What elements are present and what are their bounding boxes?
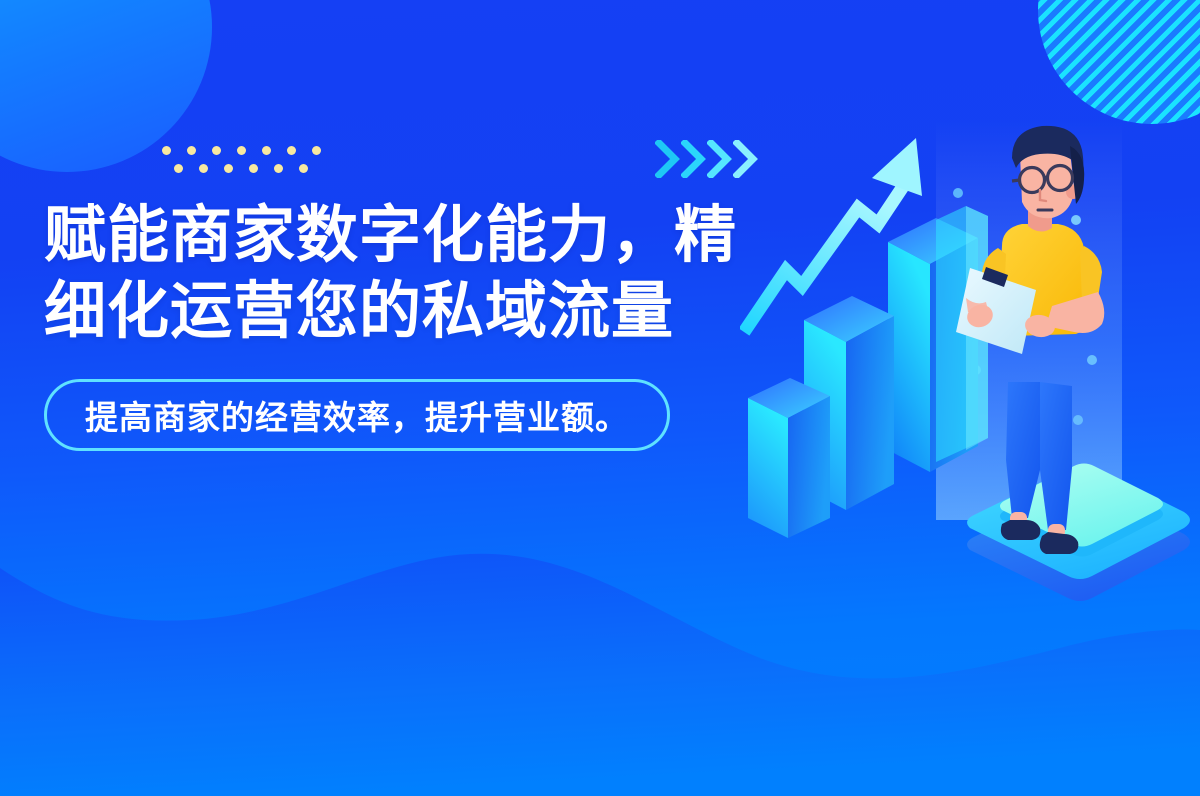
decorative-dot [299,164,308,173]
illustration-svg [740,120,1200,620]
decorative-dot [162,146,171,155]
decorative-dot [174,164,183,173]
decorative-dot [187,146,196,155]
shoe-left [1001,520,1040,540]
decorative-dot [249,164,258,173]
chevron-right-icon [681,140,707,178]
page-title: 赋能商家数字化能力，精 细化运营您的私域流量 [44,198,784,349]
top-right-striped-circle-decoration [1038,0,1200,124]
decorative-dot [224,164,233,173]
subtitle-pill: 提高商家的经营效率，提升营业额。 [44,379,670,451]
decorative-dot [212,146,221,155]
business-analytics-illustration [740,120,1200,620]
marketing-banner: 赋能商家数字化能力，精 细化运营您的私域流量 提高商家的经营效率，提升营业额。 [0,0,1200,796]
decorative-dot [274,164,283,173]
dot-row-top [162,146,321,155]
dot-grid-decoration [162,146,330,182]
decorative-dot [262,146,271,155]
decorative-dot [287,146,296,155]
dot-row-bottom [174,164,308,173]
decorative-dot [312,146,321,155]
chevron-right-icon [655,140,681,178]
chevron-right-icon [707,140,733,178]
banner-copy: 赋能商家数字化能力，精 细化运营您的私域流量 提高商家的经营效率，提升营业额。 [44,198,784,451]
decorative-dot [237,146,246,155]
decorative-dot [199,164,208,173]
